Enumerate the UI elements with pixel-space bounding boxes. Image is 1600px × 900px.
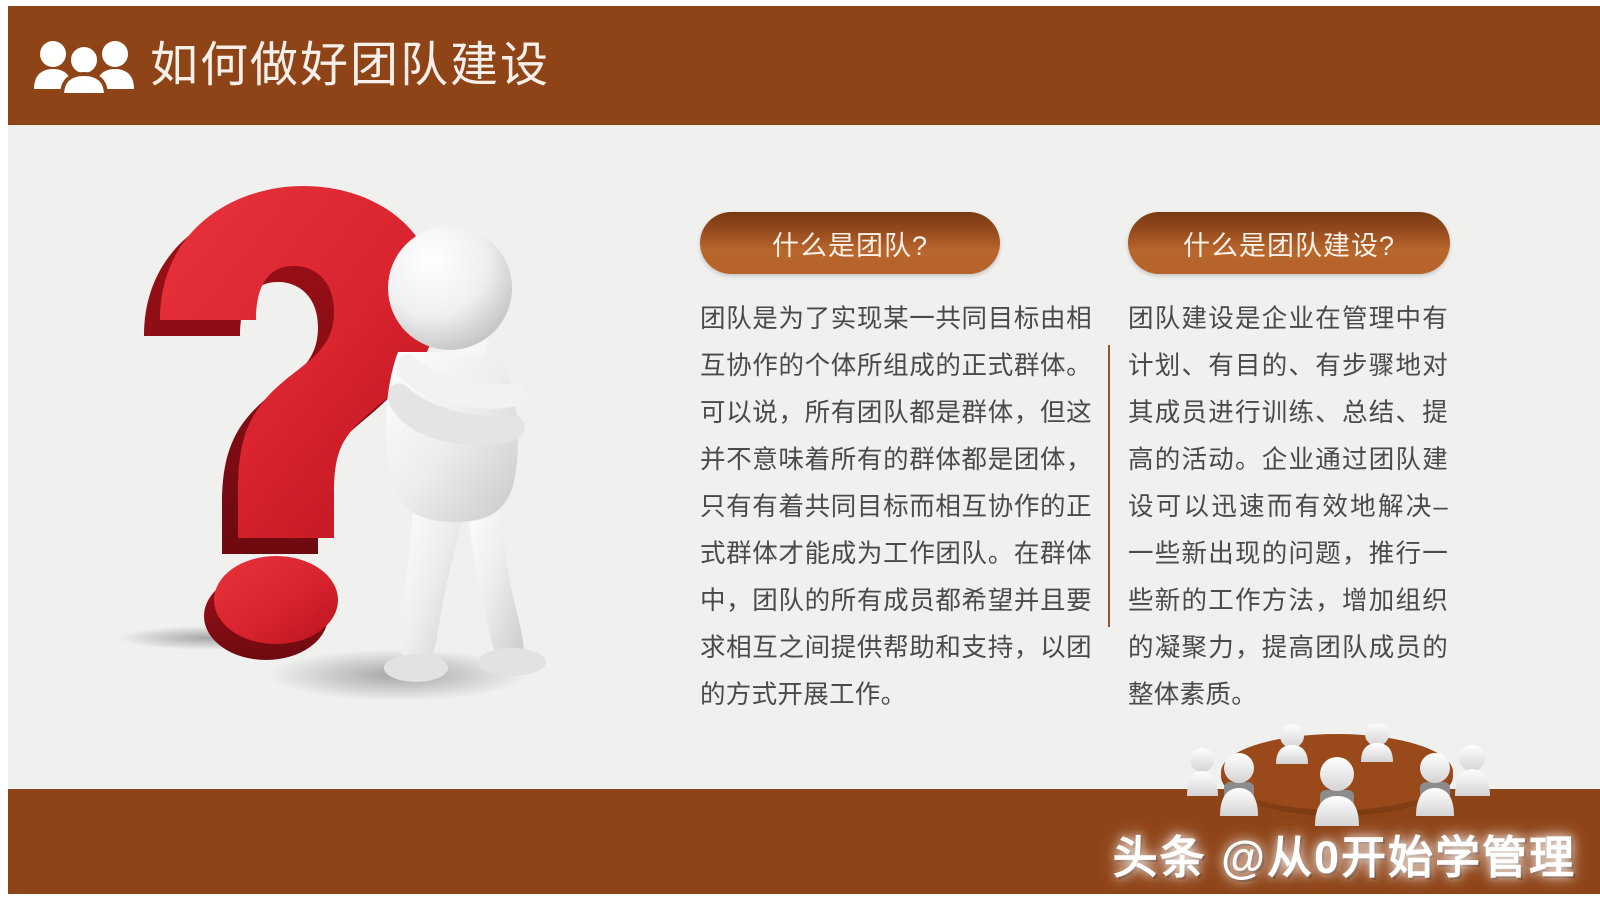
paragraph-what-is-team-building: 团队建设是企业在管理中有计划、有目的、有步骤地对其成员进行训练、总结、提高的活动… (1128, 296, 1448, 719)
content-area: 什么是团队? 团队是为了实现某一共同目标由相互协作的个体所组成的正式群体。可以说… (8, 125, 1600, 789)
people-group-icon (32, 37, 136, 95)
question-mark-illustration (98, 170, 618, 710)
slide: 如何做好团队建设 (0, 0, 1600, 900)
column-what-is-team: 什么是团队? 团队是为了实现某一共同目标由相互协作的个体所组成的正式群体。可以说… (700, 212, 1100, 719)
page-title: 如何做好团队建设 (150, 42, 550, 90)
watermark-text: 头条 @从0开始学管理 (1113, 821, 1576, 886)
column-divider (1108, 345, 1110, 627)
pill-what-is-team[interactable]: 什么是团队? (700, 212, 1000, 274)
pill-what-is-team-building[interactable]: 什么是团队建设? (1128, 212, 1450, 274)
paragraph-what-is-team: 团队是为了实现某一共同目标由相互协作的个体所组成的正式群体。可以说，所有团队都是… (700, 296, 1092, 719)
column-what-is-team-building: 什么是团队建设? 团队建设是企业在管理中有计划、有目的、有步骤地对其成员进行训练… (1128, 212, 1468, 719)
header-bar: 如何做好团队建设 (8, 6, 1600, 125)
